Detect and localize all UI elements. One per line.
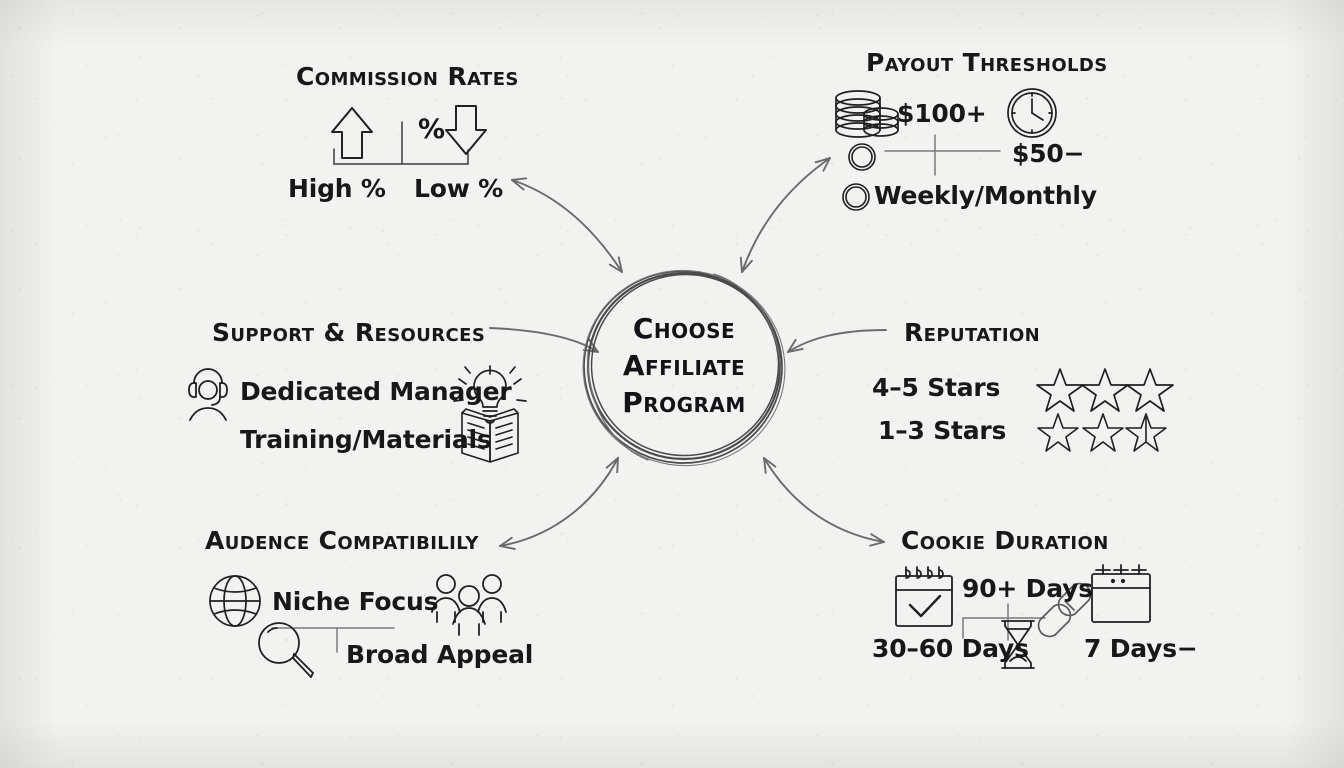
- item-payout-50: $50−: [1012, 139, 1084, 168]
- branch-heading-cookie-duration: Cookie Duration: [901, 526, 1109, 555]
- item-reputation-low: 1–3 Stars: [878, 416, 1006, 445]
- center-line-2: Affiliate: [594, 347, 774, 384]
- calendar-check-icon: [896, 567, 952, 626]
- people-group-icon: [432, 575, 506, 635]
- item-support-training: Training/Materials: [240, 425, 492, 454]
- item-cookie-30-60: 30–60 Days: [872, 634, 1029, 663]
- star-icon-5: [1083, 414, 1123, 451]
- center-node-text: Choose Affiliate Program: [594, 310, 774, 421]
- branch-heading-support-resources: Support & Resources: [212, 318, 485, 347]
- item-payout-frequency: Weekly/Monthly: [874, 181, 1097, 210]
- globe-icon: [210, 576, 260, 626]
- branch-heading-commission-rates: Commission Rates: [296, 62, 519, 91]
- headset-support-icon: [189, 369, 227, 420]
- mindmap-canvas: Choose Affiliate Program Commission Rate…: [0, 0, 1344, 768]
- dollar-coin-icon-2: [843, 184, 869, 210]
- star-icon-1: [1037, 369, 1083, 411]
- coin-stack-icon: [836, 91, 898, 137]
- dollar-coin-icon: [849, 144, 875, 170]
- down-arrow-icon: [446, 106, 486, 154]
- star-icon-3: [1127, 369, 1173, 411]
- clock-icon: [1008, 89, 1056, 137]
- branch-heading-payout-thresholds: Payout Thresholds: [866, 48, 1108, 77]
- percent-symbol: %: [418, 114, 445, 145]
- star-icon-4: [1038, 414, 1078, 451]
- item-cookie-7: 7 Days−: [1084, 634, 1198, 663]
- item-support-manager: Dedicated Manager: [240, 377, 512, 406]
- center-line-1: Choose: [594, 310, 774, 347]
- magnifier-icon: [259, 623, 313, 677]
- item-audience-broad: Broad Appeal: [346, 640, 533, 669]
- up-arrow-icon: [332, 108, 372, 158]
- item-payout-100: $100+: [897, 99, 987, 128]
- half-star-icon: [1126, 414, 1166, 451]
- item-audience-niche: Niche Focus: [272, 587, 438, 616]
- item-cookie-90: 90+ Days: [962, 574, 1093, 603]
- branch-heading-reputation: Reputation: [904, 318, 1040, 347]
- branch-heading-audence-compatibilily: Audence Compatibilily: [205, 526, 479, 555]
- item-commission-low: Low %: [414, 174, 503, 203]
- center-line-3: Program: [594, 384, 774, 421]
- star-icon-2: [1082, 369, 1128, 411]
- item-reputation-high: 4–5 Stars: [872, 373, 1000, 402]
- item-commission-high: High %: [288, 174, 386, 203]
- calendar-icon: [1092, 565, 1150, 622]
